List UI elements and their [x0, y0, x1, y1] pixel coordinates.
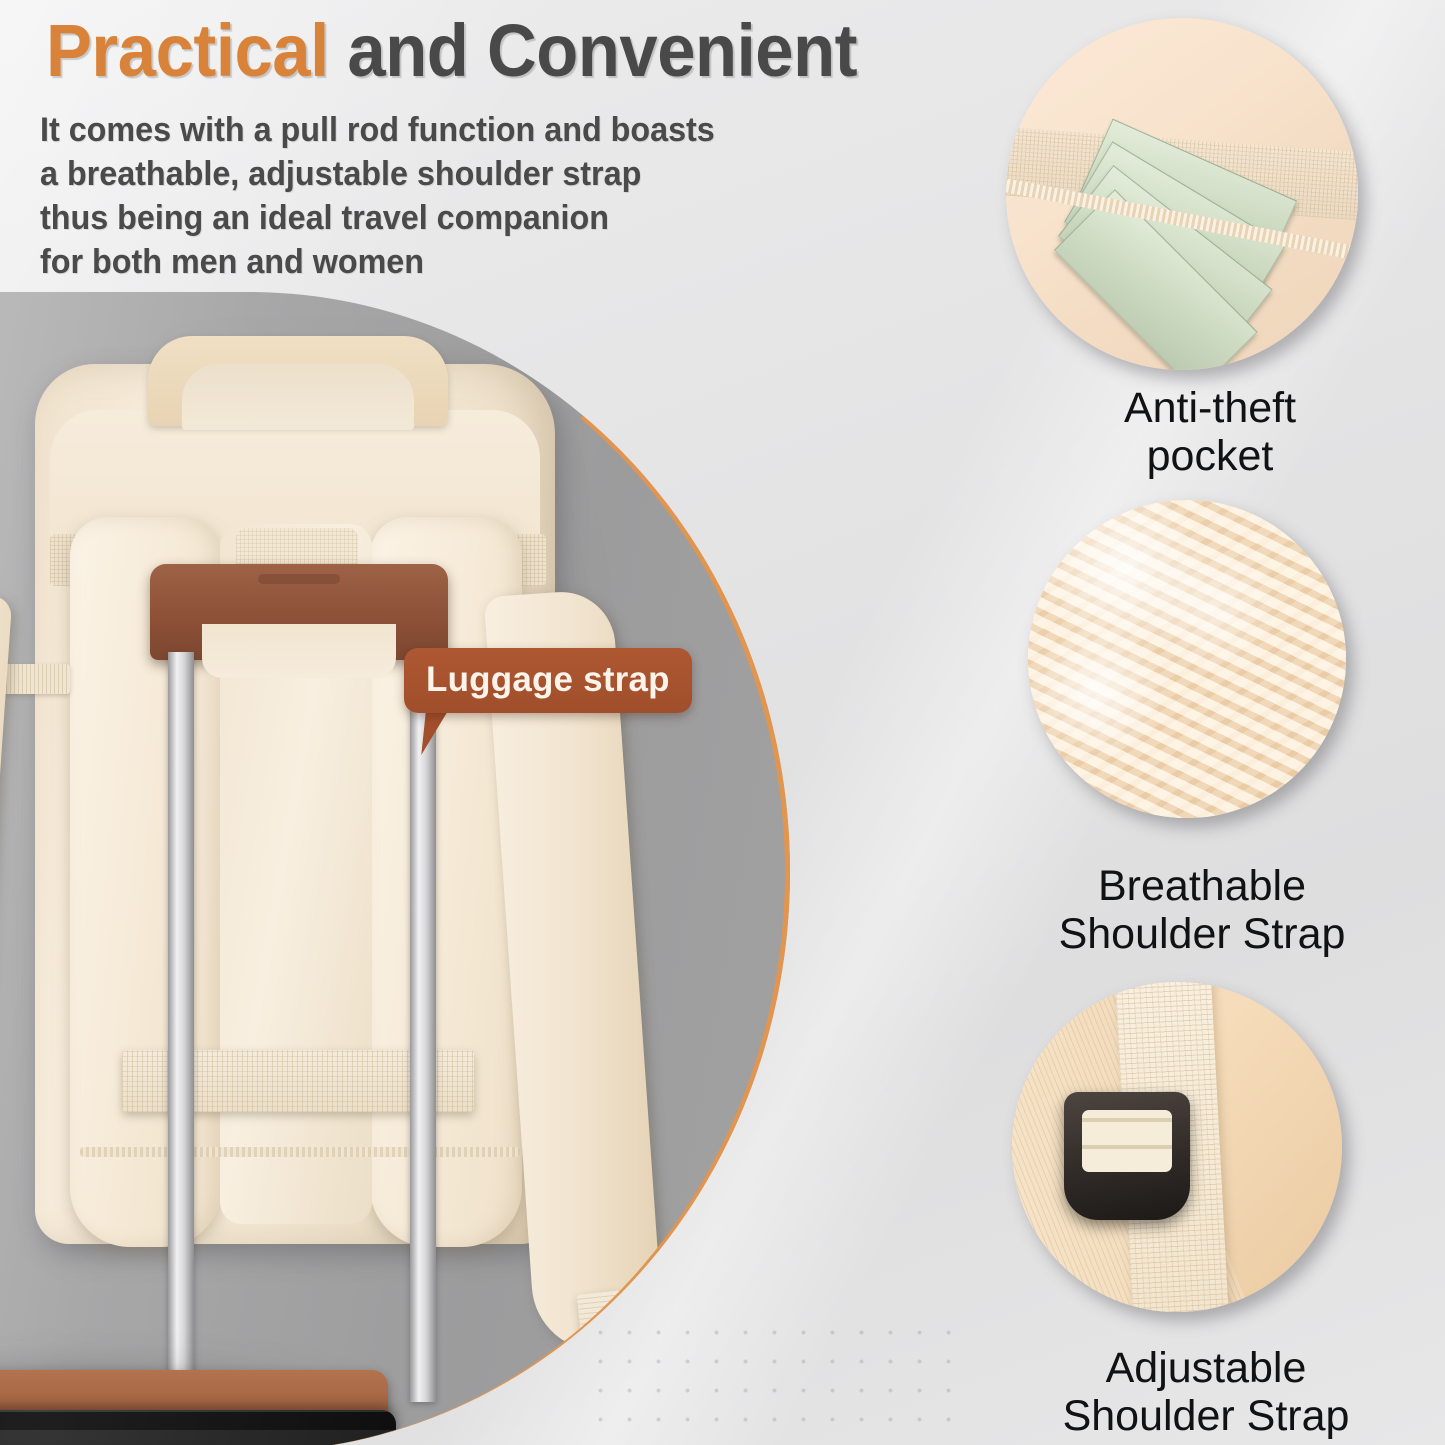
caption-line-2: pocket [1010, 432, 1410, 480]
trolley-rod-left [168, 652, 194, 1402]
luggage-strap-callout: Luggage strap [404, 648, 692, 713]
description-line-3: thus being an ideal travel companion [40, 196, 715, 240]
page-title-rest: and Convenient [329, 9, 857, 92]
breathable-mesh-texture [1028, 500, 1346, 818]
caption-line-1: Anti-theft [1010, 384, 1410, 432]
page-title-accent: Practical [46, 9, 329, 92]
trolley-handle-notch [202, 624, 396, 678]
feature-image-breathable-mesh [1028, 500, 1346, 818]
suitcase-hardshell-body [0, 1410, 396, 1445]
decorative-dot-grid [586, 1318, 966, 1428]
caption-line-2: Shoulder Strap [1002, 910, 1402, 958]
backpack-top-handle [148, 336, 448, 426]
description-paragraph: It comes with a pull rod function and bo… [40, 108, 715, 284]
trolley-handle-grip [258, 574, 340, 584]
feature-image-anti-theft-pocket: B 17696399 [1006, 18, 1358, 370]
caption-line-1: Breathable [1002, 862, 1402, 910]
feature-caption-breathable-shoulder-strap: Breathable Shoulder Strap [1002, 862, 1402, 958]
ladder-lock-buckle [1064, 1092, 1190, 1220]
description-line-1: It comes with a pull rod function and bo… [40, 108, 715, 152]
caption-line-2: Shoulder Strap [1006, 1392, 1406, 1440]
description-line-2: a breathable, adjustable shoulder strap [40, 152, 715, 196]
hero-product-photo [0, 292, 790, 1445]
caption-line-1: Adjustable [1006, 1344, 1406, 1392]
side-webbing-left [0, 664, 70, 694]
description-line-4: for both men and women [40, 240, 715, 284]
hero-photo-clip [0, 292, 790, 1445]
feature-caption-anti-theft-pocket: Anti-theft pocket [1010, 384, 1410, 480]
page-title: Practical and Convenient [46, 14, 857, 88]
feature-caption-adjustable-shoulder-strap: Adjustable Shoulder Strap [1006, 1344, 1406, 1440]
backpack-zipper-line [80, 1147, 520, 1157]
shoulder-strap-left [0, 588, 12, 1355]
trolley-rod-right [410, 652, 436, 1402]
infographic-canvas: Practical and Convenient It comes with a… [0, 0, 1445, 1445]
feature-image-adjustable-strap [1012, 982, 1342, 1312]
